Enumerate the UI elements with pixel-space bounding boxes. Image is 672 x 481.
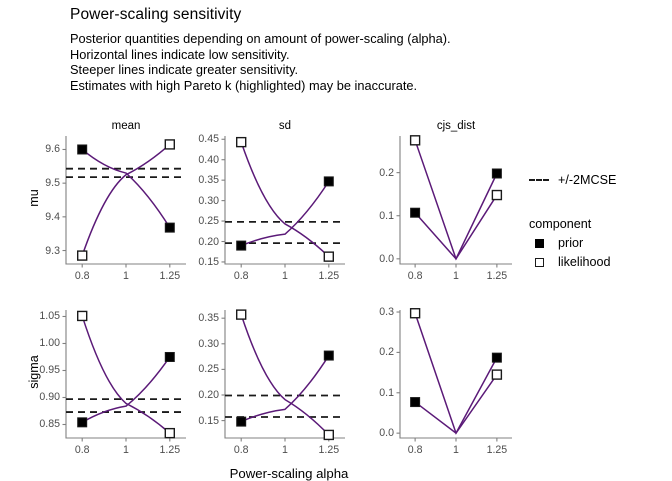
chart-legend: +/-2MCSE component prior likelihood <box>529 168 616 269</box>
y-tick-label: 9.5 <box>45 177 60 189</box>
x-tick-label: 1.25 <box>159 444 180 456</box>
plot-area <box>400 310 512 439</box>
plot-area <box>66 310 186 439</box>
filled-square-icon <box>529 239 549 248</box>
marker-likelihood <box>411 136 420 145</box>
x-tick-label: 1.25 <box>487 444 508 456</box>
marker-prior <box>165 352 174 361</box>
legend-item-mcse: +/-2MCSE <box>529 173 616 187</box>
legend-label-mcse: +/-2MCSE <box>558 173 616 187</box>
panel-mu-mean: meanmu9.39.49.59.60.811.25 <box>66 136 186 264</box>
y-tick-label: 0.25 <box>198 215 219 227</box>
y-tick-label: 0.35 <box>198 312 219 324</box>
y-tick-label: 9.6 <box>45 143 60 155</box>
y-tick-label: 0.0 <box>379 427 394 439</box>
x-tick-label: 1.25 <box>318 270 339 282</box>
marker-likelihood <box>78 251 87 260</box>
marker-prior <box>324 177 333 186</box>
y-tick-label: 0.15 <box>198 415 219 427</box>
marker-likelihood <box>165 140 174 149</box>
series-line-prior <box>241 181 329 245</box>
facet-strip-row-mu: mu <box>27 168 41 228</box>
x-axis-label: Power-scaling alpha <box>66 466 512 481</box>
x-tick-label: 0.8 <box>75 270 90 282</box>
y-tick-label: 0.20 <box>198 389 219 401</box>
marker-prior <box>78 418 87 427</box>
chart-subtitle: Posterior quantities depending on amount… <box>70 31 451 93</box>
marker-likelihood <box>237 310 246 319</box>
y-tick-label: 0.1 <box>379 387 394 399</box>
x-tick-label: 1.25 <box>159 270 180 282</box>
marker-likelihood <box>237 138 246 147</box>
plot-area <box>225 136 345 265</box>
y-tick-label: 0.15 <box>198 256 219 268</box>
legend-item-prior: prior <box>529 236 616 250</box>
marker-likelihood <box>165 429 174 438</box>
series-line-prior <box>415 358 497 434</box>
marker-likelihood <box>492 191 501 200</box>
y-tick-label: 0.2 <box>379 346 394 358</box>
series-line-prior <box>241 356 329 422</box>
y-tick-label: 0.20 <box>198 236 219 248</box>
y-tick-label: 0.35 <box>198 174 219 186</box>
marker-prior <box>411 398 420 407</box>
y-tick-label: 0.90 <box>39 391 60 403</box>
page-title: Power-scaling sensitivity <box>70 6 241 24</box>
marker-prior <box>237 417 246 426</box>
x-tick-label: 1.25 <box>318 444 339 456</box>
y-tick-label: 0.40 <box>198 154 219 166</box>
panel-sigma-sd: 0.150.200.250.300.350.811.25 <box>225 310 345 438</box>
marker-likelihood <box>324 252 333 261</box>
marker-prior <box>411 208 420 217</box>
legend-label-likelihood: likelihood <box>558 255 611 269</box>
y-tick-label: 0.0 <box>379 253 394 265</box>
marker-likelihood <box>492 370 501 379</box>
y-tick-label: 0.45 <box>198 133 219 145</box>
x-tick-label: 1 <box>453 444 459 456</box>
y-tick-label: 1.05 <box>39 310 60 322</box>
x-tick-label: 0.8 <box>408 270 423 282</box>
marker-likelihood <box>411 309 420 318</box>
y-tick-label: 1.00 <box>39 337 60 349</box>
y-tick-label: 9.4 <box>45 211 60 223</box>
legend-label-prior: prior <box>558 236 583 250</box>
legend-item-likelihood: likelihood <box>529 255 616 269</box>
y-tick-label: 0.2 <box>379 167 394 179</box>
x-tick-label: 1 <box>123 444 129 456</box>
y-tick-label: 0.85 <box>39 418 60 430</box>
axis-lines <box>66 136 186 264</box>
facet-grid: meanmu9.39.49.59.60.811.25sd0.150.200.25… <box>0 118 672 480</box>
y-tick-label: 9.3 <box>45 245 60 257</box>
marker-prior <box>492 353 501 362</box>
marker-prior <box>165 223 174 232</box>
series-line-likelihood <box>415 313 497 433</box>
plot-area <box>225 310 345 439</box>
plot-area <box>66 136 186 265</box>
marker-prior <box>492 169 501 178</box>
panel-sigma-mean: sigma0.850.900.951.001.050.811.25 <box>66 310 186 438</box>
y-tick-label: 0.25 <box>198 363 219 375</box>
panel-sigma-cjs_dist: 0.00.10.20.30.811.25 <box>400 310 512 438</box>
panel-mu-cjs_dist: cjs_dist0.00.10.20.811.25 <box>400 136 512 264</box>
x-tick-label: 1 <box>123 270 129 282</box>
x-tick-label: 0.8 <box>234 444 249 456</box>
facet-strip-col-mean: mean <box>66 120 186 132</box>
x-tick-label: 1 <box>282 270 288 282</box>
marker-prior <box>237 241 246 250</box>
dashed-line-icon <box>529 179 549 181</box>
series-line-likelihood <box>82 144 170 255</box>
power-scaling-sensitivity-chart: Power-scaling sensitivity Posterior quan… <box>0 0 672 480</box>
facet-strip-col-sd: sd <box>225 120 345 132</box>
legend-title-component: component <box>529 217 616 231</box>
x-tick-label: 1.25 <box>487 270 508 282</box>
y-tick-label: 0.30 <box>198 195 219 207</box>
y-tick-label: 0.1 <box>379 210 394 222</box>
facet-strip-col-cjs_dist: cjs_dist <box>400 120 512 132</box>
panel-mu-sd: sd0.150.200.250.300.350.400.450.811.25 <box>225 136 345 264</box>
x-tick-label: 0.8 <box>408 444 423 456</box>
x-tick-label: 0.8 <box>234 270 249 282</box>
x-tick-label: 0.8 <box>75 444 90 456</box>
y-tick-label: 0.30 <box>198 338 219 350</box>
marker-likelihood <box>324 430 333 439</box>
series-line-prior <box>415 173 497 258</box>
y-tick-label: 0.3 <box>379 306 394 318</box>
y-tick-label: 0.95 <box>39 364 60 376</box>
plot-area <box>400 136 512 265</box>
x-tick-label: 1 <box>453 270 459 282</box>
marker-prior <box>324 351 333 360</box>
marker-likelihood <box>78 311 87 320</box>
marker-prior <box>78 145 87 154</box>
x-tick-label: 1 <box>282 444 288 456</box>
open-square-icon <box>529 258 549 267</box>
series-line-prior <box>82 149 170 227</box>
